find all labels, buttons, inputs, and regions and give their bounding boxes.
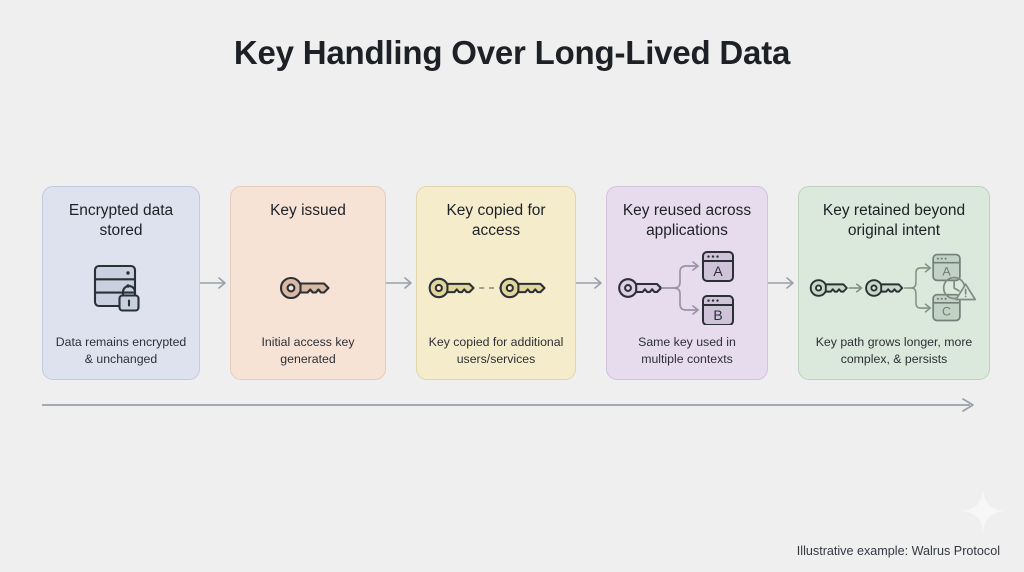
connector-arrow-1	[200, 186, 230, 380]
step-illustration: A B	[617, 241, 757, 334]
key-copy-illustration	[427, 273, 565, 303]
arrow-right-icon	[200, 276, 230, 290]
app-window-label: C	[942, 304, 951, 318]
step-title: Key issued	[270, 201, 346, 241]
slide-canvas: Key Handling Over Long-Lived Data Encryp…	[0, 0, 1024, 572]
key-icon	[278, 273, 338, 303]
step-caption: Key path grows longer, more complex, & p…	[809, 334, 979, 367]
key-icon	[866, 280, 902, 296]
connector-arrow-4	[768, 186, 798, 380]
step-illustration	[427, 241, 565, 334]
app-window-icon: A	[933, 254, 960, 280]
arrow-right-icon	[849, 284, 861, 292]
step-title: Key reused across applications	[617, 201, 757, 241]
step-illustration	[241, 241, 375, 334]
app-window-icon: B	[703, 296, 733, 325]
key-icon	[619, 279, 661, 297]
key-icon	[430, 278, 474, 296]
step-card-key-issued[interactable]: Key issued Initial access key generated	[230, 186, 386, 380]
database-lock-illustration	[90, 258, 152, 318]
branch-icon	[662, 262, 698, 314]
footer-note: Illustrative example: Walrus Protocol	[797, 544, 1000, 558]
step-card-key-reused-across-applications[interactable]: Key reused across applications	[606, 186, 768, 380]
step-caption: Same key used in multiple contexts	[617, 334, 757, 367]
key-fanout-illustration: A B	[617, 251, 757, 325]
step-card-key-retained-beyond-original-intent[interactable]: Key retained beyond original intent	[798, 186, 990, 380]
step-caption: Data remains encrypted & unchanged	[53, 334, 189, 367]
key-persistence-illustration: A C	[809, 250, 979, 326]
progression-timeline	[42, 396, 978, 414]
step-illustration	[53, 241, 189, 334]
database-led-1	[126, 271, 129, 274]
connector-arrow-3	[576, 186, 606, 380]
app-window-label: A	[713, 263, 723, 279]
branch-icon	[905, 264, 931, 312]
key-icon	[501, 278, 545, 296]
arrow-right-icon	[386, 276, 416, 290]
step-illustration: A C	[809, 241, 979, 334]
app-window-icon: A	[703, 252, 733, 281]
app-window-label: B	[713, 307, 722, 323]
step-caption: Initial access key generated	[241, 334, 375, 367]
sparkle-icon	[960, 488, 1006, 534]
step-caption: Key copied for additional users/services	[427, 334, 565, 367]
arrow-right-icon	[768, 276, 798, 290]
key-icon	[811, 280, 847, 296]
app-window-label: A	[942, 264, 951, 278]
step-title: Key retained beyond original intent	[809, 201, 979, 241]
step-title: Key copied for access	[427, 201, 565, 241]
arrow-right-icon	[576, 276, 606, 290]
step-card-encrypted-data-stored[interactable]: Encrypted data stored	[42, 186, 200, 380]
connector-arrow-2	[386, 186, 416, 380]
process-flow: Encrypted data stored	[42, 186, 990, 380]
step-card-key-copied-for-access[interactable]: Key copied for access Key cop	[416, 186, 576, 380]
warning-triangle-icon	[956, 284, 975, 299]
page-title: Key Handling Over Long-Lived Data	[0, 34, 1024, 72]
step-title: Encrypted data stored	[53, 201, 189, 241]
